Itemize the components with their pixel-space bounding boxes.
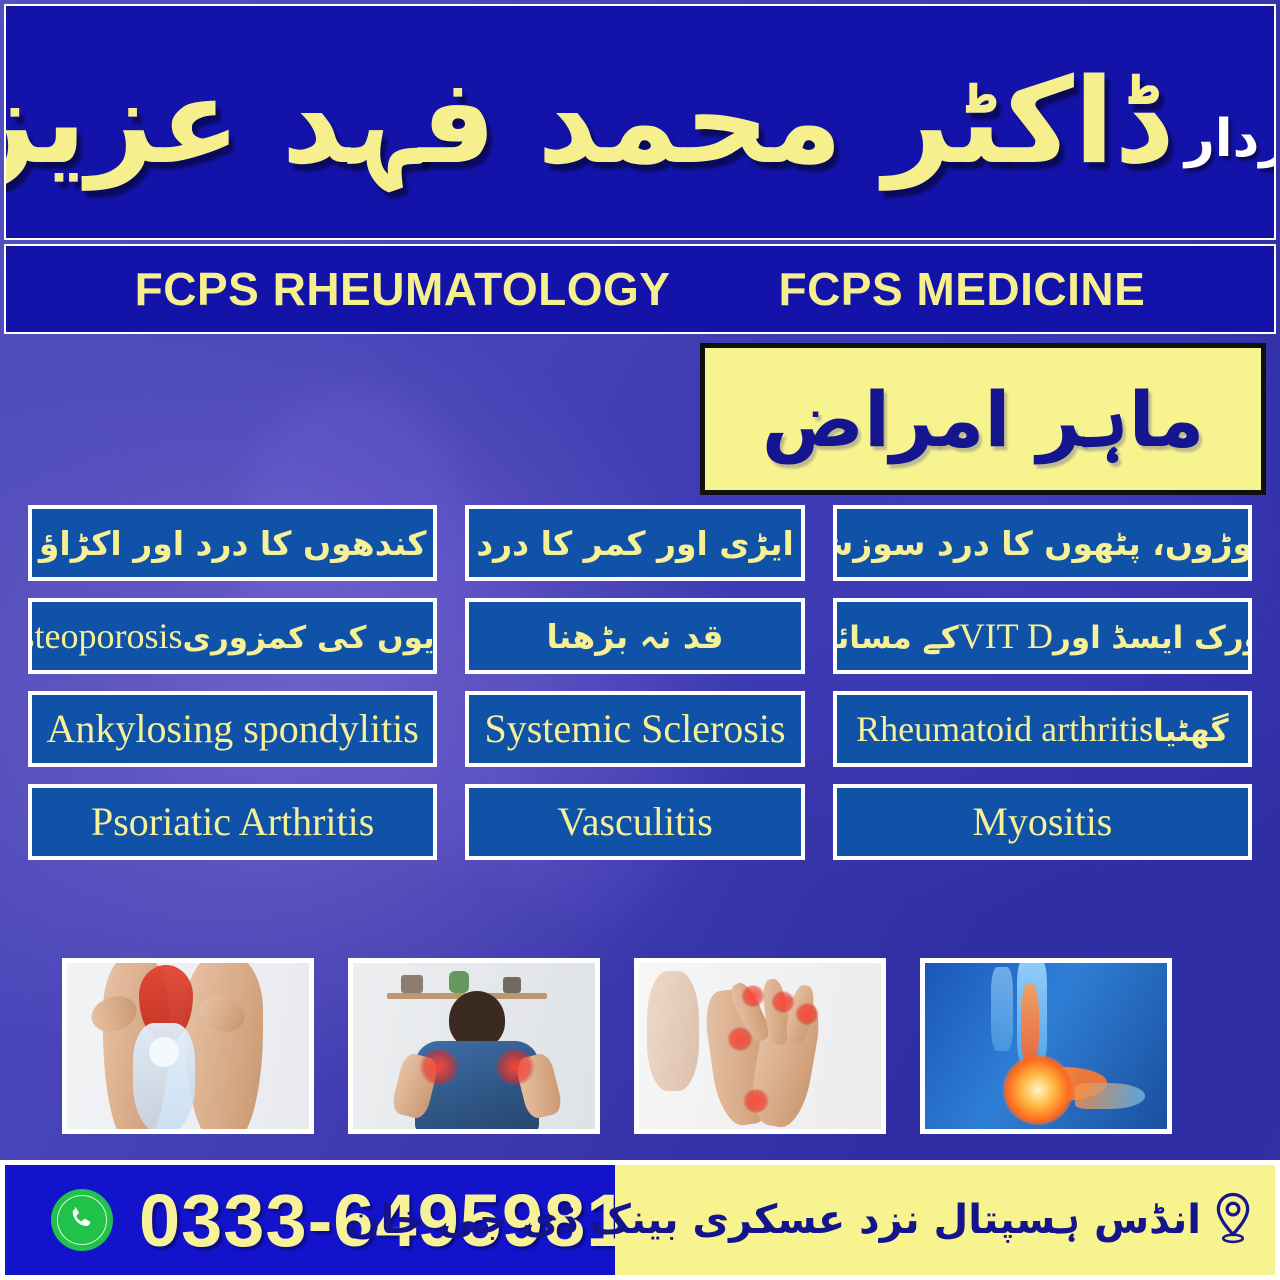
services-grid: کندھوں کا درد اور اکڑاؤ ایڑی اور کمر کا … — [28, 505, 1252, 877]
qualification-rheumatology: FCPS RHEUMATOLOGY — [135, 262, 671, 316]
service-label-urdu-tail: کے مسائل — [833, 620, 959, 656]
service-label: قد نہ بڑھنا — [546, 620, 723, 653]
service-label-urdu: یورک ایسڈ اور — [1053, 620, 1252, 656]
location-pin-icon — [1213, 1192, 1253, 1249]
doctor-name-banner: ڈاکٹر محمد فہد عزیز بزدار — [4, 4, 1276, 240]
service-heel-back-pain[interactable]: ایڑی اور کمر کا درد — [465, 505, 804, 581]
service-label-urdu: گھٹیا — [1153, 713, 1228, 749]
service-label-urdu: ہڈیوں کی کمزوری — [183, 620, 438, 656]
whatsapp-phone-icon[interactable] — [51, 1189, 113, 1251]
specialist-label: ماہر امراض — [762, 375, 1205, 464]
service-label: کندھوں کا درد اور اکڑاؤ — [39, 527, 427, 560]
service-osteoporosis[interactable]: ہڈیوں کی کمزوریOsteoporosis — [28, 598, 437, 674]
specialist-badge: ماہر امراض — [700, 343, 1266, 495]
service-growth-problem[interactable]: قد نہ بڑھنا — [465, 598, 804, 674]
service-vasculitis[interactable]: Vasculitis — [465, 784, 804, 860]
service-label: گھٹیاRheumatoid arthritis — [856, 711, 1228, 747]
service-label: Vasculitis — [557, 802, 713, 842]
clinic-advertisement-poster: ڈاکٹر محمد فہد عزیز بزدار FCPS RHEUMATOL… — [0, 0, 1280, 1280]
qualification-medicine: FCPS MEDICINE — [778, 262, 1145, 316]
services-row-2: ہڈیوں کی کمزوریOsteoporosis قد نہ بڑھنا … — [28, 598, 1252, 674]
ankle-pain-photo — [920, 958, 1172, 1134]
service-label: ہڈیوں کی کمزوریOsteoporosis — [28, 618, 437, 654]
contact-footer: 0333-6495981 انڈس ہسپتال نزد عسکری بینک … — [0, 1160, 1280, 1280]
service-label: Ankylosing spondylitis — [47, 709, 419, 749]
service-label: یورک ایسڈ اورVIT Dکے مسائل — [833, 618, 1252, 654]
doctor-name: ڈاکٹر محمد فہد عزیز — [4, 54, 1167, 190]
service-rheumatoid-arthritis[interactable]: گھٹیاRheumatoid arthritis — [833, 691, 1252, 767]
service-label: Myositis — [972, 802, 1112, 842]
service-label: Psoriatic Arthritis — [91, 802, 374, 842]
doctor-surname: بزدار — [1185, 109, 1276, 169]
service-shoulder-pain[interactable]: کندھوں کا درد اور اکڑاؤ — [28, 505, 437, 581]
condition-photo-strip — [62, 958, 1222, 1140]
service-joint-muscle-pain[interactable]: جوڑوں، پٹھوں کا درد سوزش — [833, 505, 1252, 581]
arthritic-hands-photo — [634, 958, 886, 1134]
service-myositis[interactable]: Myositis — [833, 784, 1252, 860]
service-psoriatic-arthritis[interactable]: Psoriatic Arthritis — [28, 784, 437, 860]
service-uric-acid-vitamin-d[interactable]: یورک ایسڈ اورVIT Dکے مسائل — [833, 598, 1252, 674]
clinic-address: انڈس ہسپتال نزد عسکری بینک ڈی جی خان — [346, 1198, 1201, 1242]
service-label: جوڑوں، پٹھوں کا درد سوزش — [833, 527, 1252, 560]
service-label-latin: Osteoporosis — [28, 616, 183, 656]
service-ankylosing-spondylitis[interactable]: Ankylosing spondylitis — [28, 691, 437, 767]
address-panel: انڈس ہسپتال نزد عسکری بینک ڈی جی خان — [615, 1160, 1280, 1280]
shoulder-back-pain-photo — [348, 958, 600, 1134]
service-label-latin: VIT D — [959, 616, 1053, 656]
services-row-3: Ankylosing spondylitis Systemic Sclerosi… — [28, 691, 1252, 767]
services-row-1: کندھوں کا درد اور اکڑاؤ ایڑی اور کمر کا … — [28, 505, 1252, 581]
service-label: Systemic Sclerosis — [484, 709, 785, 749]
service-label: ایڑی اور کمر کا درد — [476, 527, 794, 560]
service-label-latin: Rheumatoid arthritis — [856, 709, 1153, 749]
knee-pain-photo — [62, 958, 314, 1134]
service-systemic-sclerosis[interactable]: Systemic Sclerosis — [465, 691, 804, 767]
services-row-4: Psoriatic Arthritis Vasculitis Myositis — [28, 784, 1252, 860]
qualifications-banner: FCPS RHEUMATOLOGY FCPS MEDICINE — [4, 244, 1276, 334]
